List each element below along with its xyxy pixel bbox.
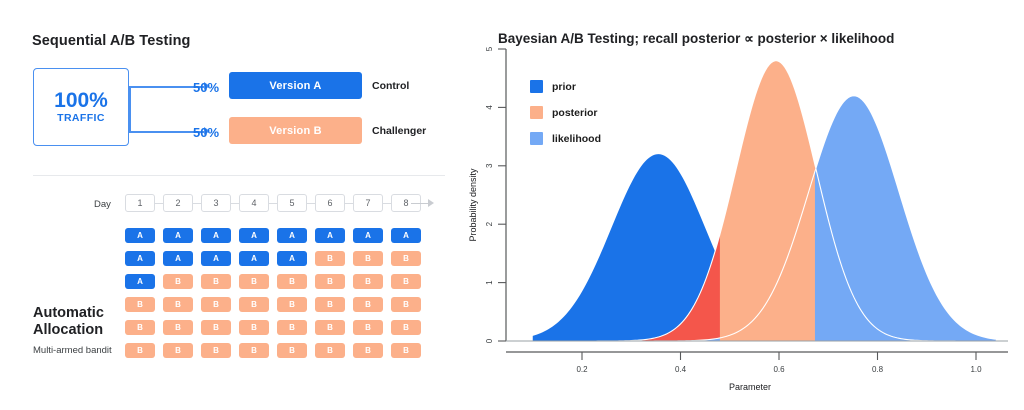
bandit-cell-a[interactable]: A: [125, 228, 155, 243]
traffic-label: TRAFFIC: [57, 112, 105, 124]
bandit-cell-a[interactable]: A: [391, 228, 421, 243]
bandit-cell-b[interactable]: B: [391, 274, 421, 289]
traffic-source-box: 100% TRAFFIC: [33, 68, 129, 146]
timeline-day-1[interactable]: 1: [125, 194, 155, 212]
bandit-cell-b[interactable]: B: [277, 343, 307, 358]
version-a-bar[interactable]: Version A: [229, 72, 362, 99]
bandit-cell-b[interactable]: B: [239, 320, 269, 335]
legend-swatch-prior: [530, 80, 543, 93]
timeline-day-4[interactable]: 4: [239, 194, 269, 212]
y-tick-label: 5: [485, 46, 494, 51]
x-tick-label: 0.4: [675, 365, 687, 374]
legend-label: likelihood: [552, 133, 601, 145]
bandit-cell-b[interactable]: B: [163, 343, 193, 358]
bandit-cell-a[interactable]: A: [239, 251, 269, 266]
timeline-day-7[interactable]: 7: [353, 194, 383, 212]
bandit-cell-b[interactable]: B: [277, 320, 307, 335]
legend-swatch-likelihood: [530, 132, 543, 145]
bandit-cell-b[interactable]: B: [277, 297, 307, 312]
version-b-role-label: Challenger: [372, 125, 426, 137]
y-tick-label: 0: [485, 338, 494, 343]
bandit-cell-b[interactable]: B: [239, 343, 269, 358]
bandit-cell-a[interactable]: A: [201, 228, 231, 243]
timeline-day-3[interactable]: 3: [201, 194, 231, 212]
version-b-bar[interactable]: Version B: [229, 117, 362, 144]
bandit-cell-a[interactable]: A: [125, 274, 155, 289]
y-tick-label: 4: [485, 105, 494, 110]
timeline-day-6[interactable]: 6: [315, 194, 345, 212]
bandit-cell-b[interactable]: B: [391, 251, 421, 266]
timeline-day-label: Day: [94, 199, 111, 210]
y-tick-label: 2: [485, 221, 494, 226]
bandit-cell-b[interactable]: B: [353, 297, 383, 312]
bandit-cell-b[interactable]: B: [353, 320, 383, 335]
legend-item-likelihood: likelihood: [530, 132, 601, 145]
allocation-subtitle: Multi-armed bandit: [33, 345, 112, 356]
arrow-right-icon: [428, 199, 434, 207]
bandit-cell-b[interactable]: B: [353, 274, 383, 289]
x-tick-label: 0.6: [773, 365, 785, 374]
bandit-cell-b[interactable]: B: [391, 297, 421, 312]
traffic-percent: 100%: [54, 90, 108, 112]
page-title: Sequential A/B Testing: [32, 33, 191, 49]
bandit-cell-a[interactable]: A: [163, 228, 193, 243]
split-percent-a: 50%: [193, 80, 219, 95]
y-axis-title: Probability density: [468, 168, 478, 242]
section-divider: [33, 175, 445, 176]
bandit-cell-b[interactable]: B: [315, 274, 345, 289]
bandit-cell-b[interactable]: B: [315, 297, 345, 312]
bandit-cell-b[interactable]: B: [163, 320, 193, 335]
allocation-title: Automatic Allocation: [33, 305, 133, 339]
probability-density-plot: 0123450.20.40.60.81.0ParameterProbabilit…: [460, 0, 1024, 410]
version-a-role-label: Control: [372, 80, 409, 92]
bandit-cell-a[interactable]: A: [277, 228, 307, 243]
bandit-cell-b[interactable]: B: [201, 297, 231, 312]
y-tick-label: 1: [485, 280, 494, 285]
bandit-cell-a[interactable]: A: [163, 251, 193, 266]
timeline-day-5[interactable]: 5: [277, 194, 307, 212]
bandit-cell-b[interactable]: B: [353, 251, 383, 266]
legend-item-posterior: posterior: [530, 106, 598, 119]
split-percent-b: 50%: [193, 125, 219, 140]
bandit-cell-b[interactable]: B: [277, 274, 307, 289]
timeline-day-2[interactable]: 2: [163, 194, 193, 212]
bandit-cell-b[interactable]: B: [391, 343, 421, 358]
bandit-cell-b[interactable]: B: [353, 343, 383, 358]
bandit-cell-b[interactable]: B: [201, 320, 231, 335]
bandit-cell-a[interactable]: A: [239, 228, 269, 243]
bandit-cell-b[interactable]: B: [239, 297, 269, 312]
legend-item-prior: prior: [530, 80, 576, 93]
bandit-cell-b[interactable]: B: [201, 274, 231, 289]
legend-label: prior: [552, 81, 576, 93]
bandit-cell-b[interactable]: B: [201, 343, 231, 358]
bandit-cell-b[interactable]: B: [163, 274, 193, 289]
bayesian-chart-panel: Bayesian A/B Testing; recall posterior ∝…: [460, 0, 1024, 410]
bandit-cell-a[interactable]: A: [315, 228, 345, 243]
bandit-cell-a[interactable]: A: [201, 251, 231, 266]
legend-swatch-posterior: [530, 106, 543, 119]
x-tick-label: 0.2: [576, 365, 588, 374]
bandit-cell-b[interactable]: B: [315, 251, 345, 266]
y-tick-label: 3: [485, 163, 494, 168]
bandit-cell-a[interactable]: A: [125, 251, 155, 266]
sequential-ab-testing-panel: Sequential A/B Testing 100% TRAFFIC 50% …: [0, 0, 460, 410]
bandit-cell-a[interactable]: A: [277, 251, 307, 266]
bandit-cell-b[interactable]: B: [239, 274, 269, 289]
bandit-cell-b[interactable]: B: [125, 343, 155, 358]
split-trunk: [129, 86, 131, 132]
bandit-cell-a[interactable]: A: [353, 228, 383, 243]
x-tick-label: 1.0: [970, 365, 982, 374]
x-tick-label: 0.8: [872, 365, 884, 374]
bandit-cell-b[interactable]: B: [163, 297, 193, 312]
screenshot-root: Sequential A/B Testing 100% TRAFFIC 50% …: [0, 0, 1024, 410]
bandit-cell-b[interactable]: B: [315, 343, 345, 358]
bandit-cell-b[interactable]: B: [315, 320, 345, 335]
legend-label: posterior: [552, 107, 598, 119]
x-axis-title: Parameter: [729, 382, 771, 392]
bandit-cell-b[interactable]: B: [391, 320, 421, 335]
